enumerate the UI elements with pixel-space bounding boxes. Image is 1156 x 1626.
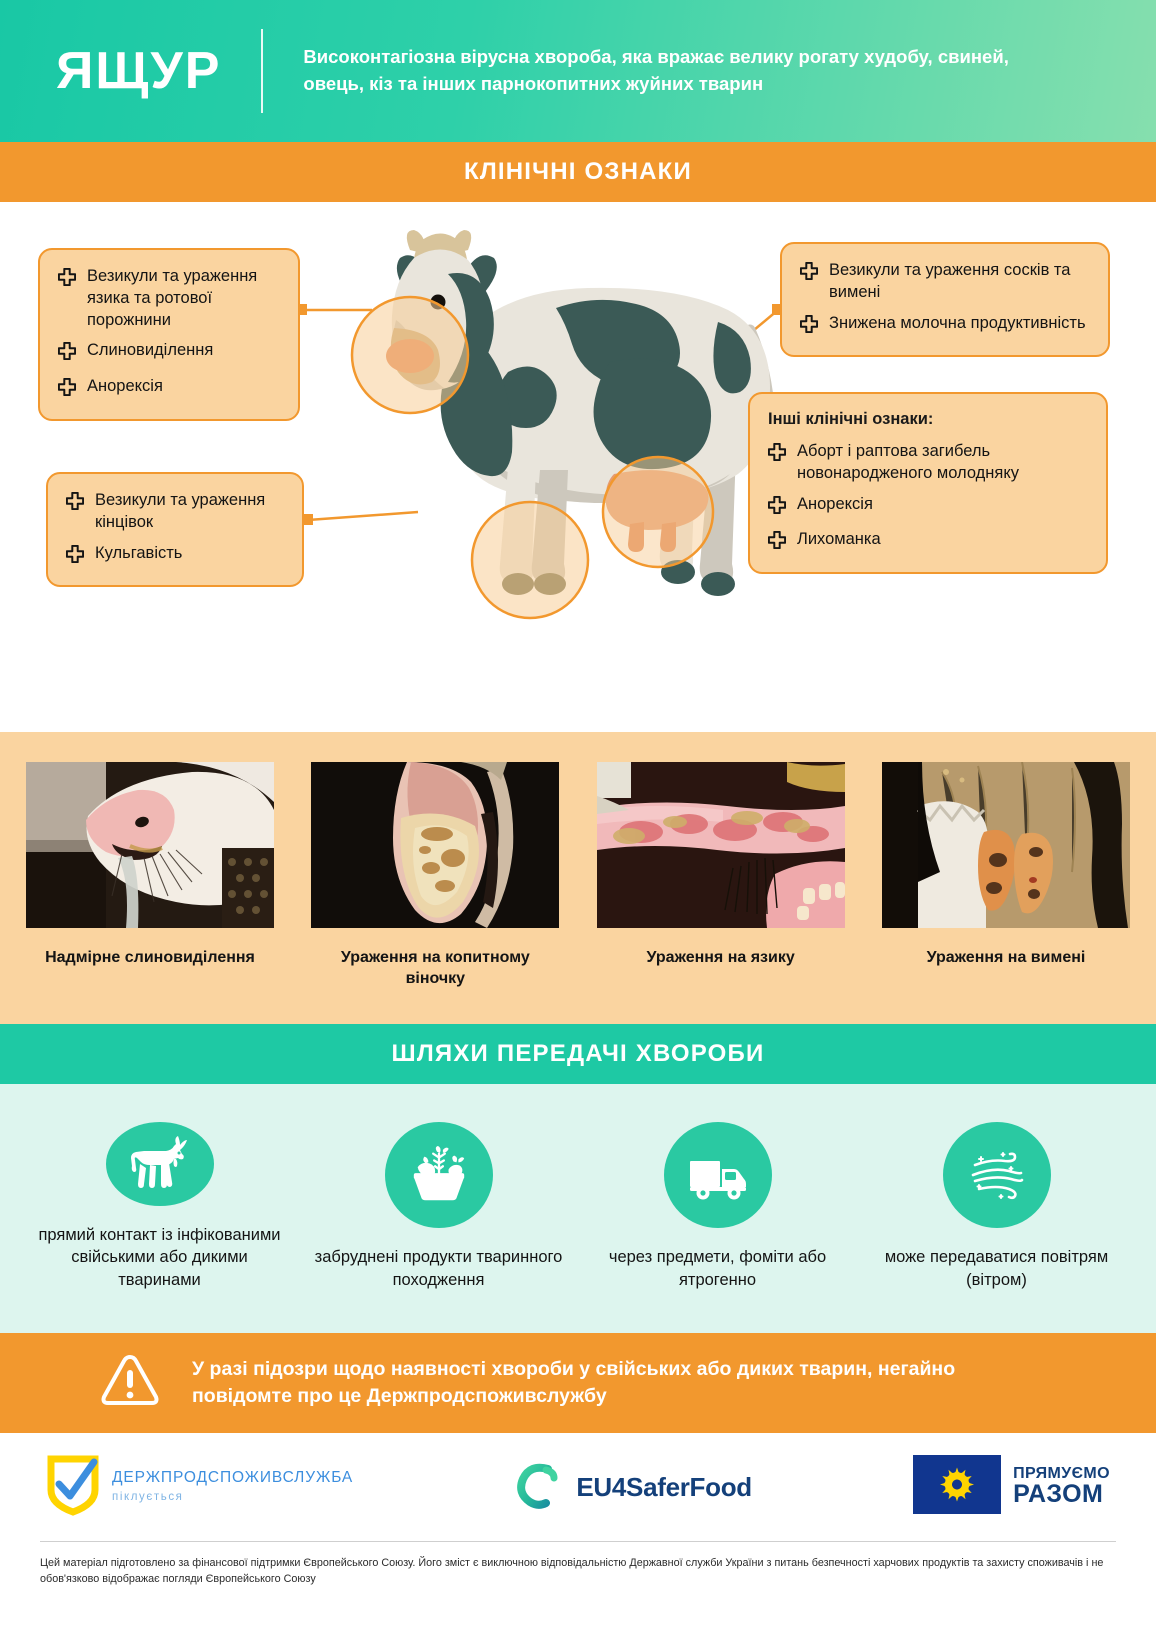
- cross-icon: [58, 378, 76, 403]
- transmission-label: може передаватися повітрям (вітром): [872, 1246, 1122, 1291]
- eu-flag-icon: [913, 1455, 1001, 1519]
- photo-card: Надмірне слиновиділення: [26, 762, 274, 998]
- section-title-clinical: КЛІНІЧНІ ОЗНАКИ: [0, 142, 1156, 202]
- list-item-label: Везикули та ураження язика та ротової по…: [87, 266, 280, 331]
- page-title: ЯЩУР: [56, 45, 261, 97]
- clinical-signs-section: Везикули та ураження язика та ротової по…: [0, 202, 1156, 732]
- transmission-label: забруднені продукти тваринного походженн…: [314, 1246, 564, 1291]
- section-title-transmission: ШЛЯХИ ПЕРЕДАЧІ ХВОРОБИ: [0, 1024, 1156, 1084]
- disclaimer-text: Цей матеріал підготовлено за фінансової …: [40, 1541, 1116, 1587]
- warning-triangle-icon: [100, 1353, 160, 1414]
- logo-row: ДЕРЖПРОДСПОЖИВСЛУЖБА піклується: [0, 1433, 1156, 1541]
- clinical-list-udder: Везикули та ураження сосків та вимені Зн…: [800, 260, 1090, 339]
- list-item-label: Анорексія: [87, 376, 163, 398]
- list-item: Везикули та ураження кінцівок: [66, 490, 284, 534]
- list-item-label: Слиновиділення: [87, 340, 213, 362]
- logo-gov-name: ДЕРЖПРОДСПОЖИВСЛУЖБА: [112, 1469, 353, 1486]
- photo-strip: Надмірне слиновиділення: [0, 732, 1156, 1024]
- clinical-list-mouth: Везикули та ураження язика та ротової по…: [58, 266, 280, 403]
- list-item-label: Лихоманка: [797, 529, 881, 551]
- cross-icon: [800, 315, 818, 340]
- cross-icon: [768, 531, 786, 556]
- list-item: Анорексія: [768, 494, 1088, 521]
- list-item: Кульгавість: [66, 543, 284, 570]
- list-item: Везикули та ураження язика та ротової по…: [58, 266, 280, 331]
- transmission-item: забруднені продукти тваринного походженн…: [314, 1122, 564, 1291]
- list-item: Лихоманка: [768, 529, 1088, 556]
- magnifier-mouth: [352, 297, 468, 413]
- photo-udder: [882, 762, 1130, 928]
- transmission-section: прямий контакт із інфікованими свійським…: [0, 1084, 1156, 1333]
- cross-icon: [66, 545, 84, 570]
- photo-caption: Надмірне слиновиділення: [45, 948, 255, 969]
- cross-icon: [768, 443, 786, 468]
- warning-banner: У разі підозри щодо наявності хвороби у …: [0, 1333, 1156, 1433]
- shield-check-icon: [46, 1454, 100, 1521]
- cross-icon: [58, 268, 76, 293]
- header-subtitle: Високонтагіозна вірусна хвороба, яка вра…: [263, 44, 1023, 98]
- magnifier-hoof: [472, 502, 588, 618]
- list-item: Аборт і раптова загибель новонародженого…: [768, 441, 1088, 485]
- list-item: Слиновиділення: [58, 340, 280, 367]
- list-item-label: Везикули та ураження сосків та вимені: [829, 260, 1090, 304]
- photo-card: Ураження на копитному віночку: [311, 762, 559, 998]
- magnifier-udder: [603, 457, 713, 567]
- wind-icon: [943, 1122, 1051, 1228]
- photo-card: Ураження на язику: [597, 762, 845, 998]
- transmission-item: через предмети, фоміти або ятрогенно: [593, 1122, 843, 1291]
- clinical-list-other: Аборт і раптова загибель новонародженого…: [768, 441, 1088, 556]
- transmission-label: через предмети, фоміти або ятрогенно: [593, 1246, 843, 1291]
- food-basket-icon: [385, 1122, 493, 1228]
- clinical-box-udder: Везикули та ураження сосків та вимені Зн…: [780, 242, 1110, 357]
- transmission-label: прямий контакт із інфікованими свійським…: [35, 1224, 285, 1291]
- cross-icon: [768, 496, 786, 521]
- list-item-label: Аборт і раптова загибель новонародженого…: [797, 441, 1088, 485]
- transmission-item: прямий контакт із інфікованими свійським…: [35, 1122, 285, 1291]
- photo-caption: Ураження на копитному віночку: [311, 948, 559, 990]
- transmission-item: може передаватися повітрям (вітром): [872, 1122, 1122, 1291]
- list-item-label: Кульгавість: [95, 543, 182, 565]
- logo-together-line2: РАЗОМ: [1013, 1482, 1110, 1508]
- logo-eu4saferfood: EU4SaferFood: [514, 1460, 752, 1515]
- clinical-box-mouth: Везикули та ураження язика та ротової по…: [38, 248, 300, 421]
- list-item-label: Знижена молочна продуктивність: [829, 313, 1086, 335]
- logo-eu4saferfood-name: EU4SaferFood: [576, 1472, 752, 1503]
- warning-text: У разі підозри щодо наявності хвороби у …: [192, 1356, 1022, 1411]
- photo-coronary-band: [311, 762, 559, 928]
- photo-card: Ураження на вимені: [882, 762, 1130, 998]
- cross-icon: [58, 342, 76, 367]
- cross-icon: [800, 262, 818, 287]
- clinical-box-other: Інші клінічні ознаки: Аборт і раптова за…: [748, 392, 1108, 574]
- header-banner: ЯЩУР Високонтагіозна вірусна хвороба, як…: [0, 0, 1156, 142]
- logo-gov-tagline: піклується: [112, 1491, 184, 1503]
- list-item: Знижена молочна продуктивність: [800, 313, 1090, 340]
- list-item: Везикули та ураження сосків та вимені: [800, 260, 1090, 304]
- clinical-box-limbs: Везикули та ураження кінцівок Кульгавіст…: [46, 472, 304, 587]
- photo-caption: Ураження на вимені: [927, 948, 1086, 969]
- infographic-page: ЯЩУР Високонтагіозна вірусна хвороба, як…: [0, 0, 1156, 1626]
- list-item: Анорексія: [58, 376, 280, 403]
- cross-icon: [66, 492, 84, 517]
- truck-icon: [664, 1122, 772, 1228]
- clinical-list-limbs: Везикули та ураження кінцівок Кульгавіст…: [66, 490, 284, 569]
- logo-together: ПРЯМУЄМО РАЗОМ: [913, 1455, 1110, 1519]
- clinical-box-other-heading: Інші клінічні ознаки:: [768, 410, 1088, 429]
- photo-caption: Ураження на язику: [647, 948, 795, 969]
- photo-tongue: [597, 762, 845, 928]
- list-item-label: Везикули та ураження кінцівок: [95, 490, 284, 534]
- goat-icon: [106, 1122, 214, 1206]
- list-item-label: Анорексія: [797, 494, 873, 516]
- photo-salivation: [26, 762, 274, 928]
- logo-derzhprodspozhyvsluzhba: ДЕРЖПРОДСПОЖИВСЛУЖБА піклується: [46, 1454, 353, 1521]
- eu4saferfood-swirl-icon: [514, 1460, 564, 1515]
